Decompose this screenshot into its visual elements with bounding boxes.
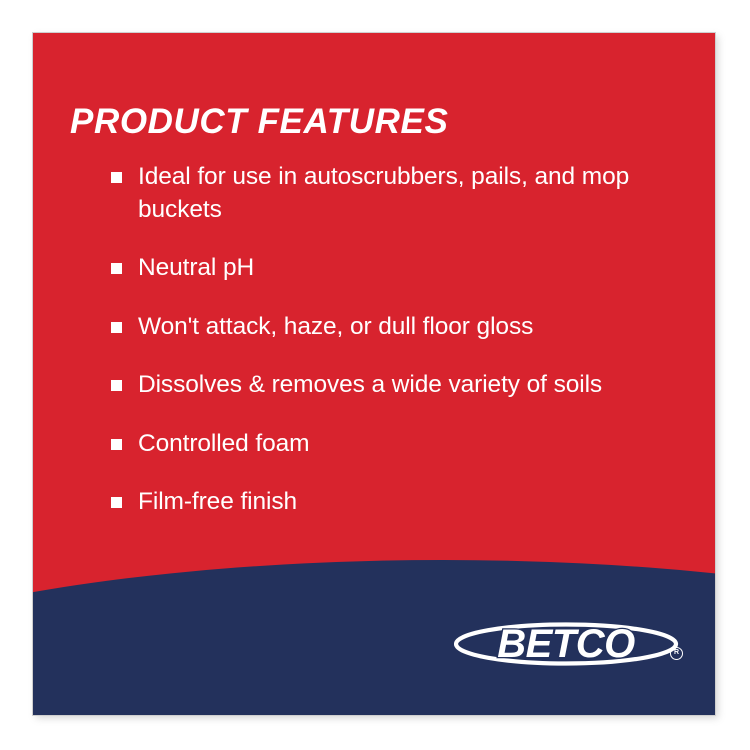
product-features-card: PRODUCT FEATURES Ideal for use in autosc…	[33, 33, 715, 715]
feature-text: Dissolves & removes a wide variety of so…	[138, 369, 643, 402]
feature-text: Ideal for use in autoscrubbers, pails, a…	[138, 161, 643, 226]
list-item: Won't attack, haze, or dull floor gloss	[111, 311, 671, 344]
betco-logo-artwork: BETCO	[454, 614, 689, 674]
square-bullet-icon	[111, 263, 122, 274]
list-item: Film-free finish	[111, 486, 671, 519]
square-bullet-icon	[111, 380, 122, 391]
registered-trademark-icon: R	[670, 647, 683, 660]
list-item: Ideal for use in autoscrubbers, pails, a…	[111, 161, 671, 226]
feature-text: Neutral pH	[138, 252, 643, 285]
feature-text: Film-free finish	[138, 486, 643, 519]
square-bullet-icon	[111, 322, 122, 333]
image-canvas: PRODUCT FEATURES Ideal for use in autosc…	[0, 0, 750, 750]
feature-text: Won't attack, haze, or dull floor gloss	[138, 311, 643, 344]
list-item: Dissolves & removes a wide variety of so…	[111, 369, 671, 402]
square-bullet-icon	[111, 172, 122, 183]
page-title: PRODUCT FEATURES	[70, 104, 448, 139]
square-bullet-icon	[111, 497, 122, 508]
list-item: Neutral pH	[111, 252, 671, 285]
square-bullet-icon	[111, 439, 122, 450]
product-features-list: Ideal for use in autoscrubbers, pails, a…	[111, 161, 671, 519]
list-item: Controlled foam	[111, 428, 671, 461]
betco-logo: BETCO R	[454, 614, 689, 674]
feature-text: Controlled foam	[138, 428, 643, 461]
logo-wordmark-text: BETCO	[497, 622, 635, 666]
